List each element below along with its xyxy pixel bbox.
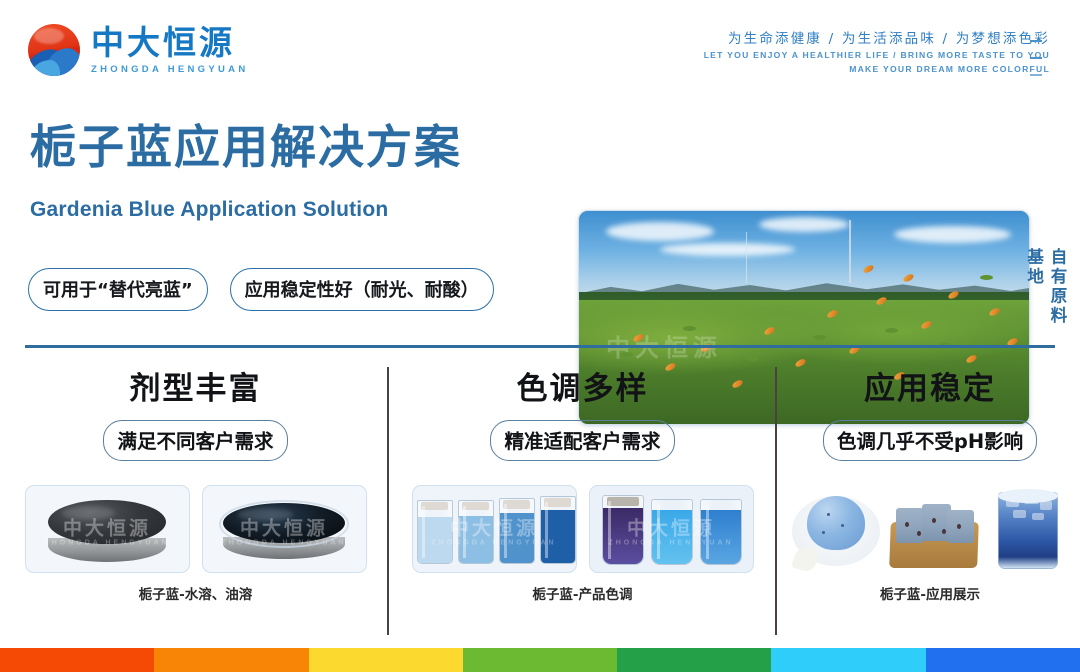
- column-3-caption: 栀子蓝-应用展示: [785, 583, 1075, 603]
- footer-swatch-6: [771, 648, 925, 672]
- brand-logo: 中大恒源 ZHONGDA HENGYUAN: [28, 24, 248, 76]
- glass: [602, 495, 644, 565]
- column-3-badge: 色调几乎不受pH影响: [823, 420, 1037, 461]
- footer-color-bar: [0, 648, 1080, 672]
- footer-swatch-7: [926, 648, 1080, 672]
- beaker: [417, 500, 453, 564]
- feature-column-2: 色调多样 精准适配客户需求 中大恒源: [395, 355, 770, 603]
- footer-swatch-1: [0, 648, 154, 672]
- column-2-caption: 栀子蓝-产品色调: [395, 583, 770, 603]
- photo-side-label: 自有原料基地: [1043, 248, 1069, 345]
- hero-badge-2: 应用稳定性好（耐光、耐酸）: [230, 268, 494, 311]
- brand-name-en: ZHONGDA HENGYUAN: [91, 64, 248, 75]
- blue-iced-drink-image: [988, 485, 1068, 573]
- blue-cake-slices-board-image: [886, 485, 982, 573]
- feature-column-1: 剂型丰富 满足不同客户需求 中大恒源 ZHONGDA HENGYUAN 中大恒源: [8, 355, 383, 603]
- brand-logo-text: 中大恒源 ZHONGDA HENGYUAN: [91, 25, 248, 75]
- footer-swatch-4: [463, 648, 617, 672]
- tagline-cn: 为生命添健康 / 为生活添品味 / 为梦想添色彩: [704, 30, 1050, 48]
- column-divider-2: [775, 367, 777, 635]
- page-header: 中大恒源 ZHONGDA HENGYUAN 为生命添健康 / 为生活添品味 / …: [0, 0, 1080, 100]
- tagline-en-line1: LET YOU ENJOY A HEALTHIER LIFE / BRING M…: [704, 48, 1050, 62]
- beaker: [458, 500, 494, 564]
- glass: [700, 499, 742, 565]
- footer-swatch-2: [154, 648, 308, 672]
- feature-column-3: 应用稳定 色调几乎不受pH影响: [785, 355, 1075, 603]
- column-1-images: 中大恒源 ZHONGDA HENGYUAN 中大恒源 ZHONGDA HENGY…: [8, 485, 383, 573]
- glass: [651, 499, 693, 565]
- gardenia-blue-oil-dish-image: 中大恒源 ZHONGDA HENGYUAN: [202, 485, 367, 573]
- poster-page: 中大恒源 ZHONGDA HENGYUAN 为生命添健康 / 为生活添品味 / …: [0, 0, 1080, 672]
- sun-over-waves-logo-icon: [28, 24, 80, 76]
- brand-name-cn: 中大恒源: [91, 25, 248, 61]
- beaker: [499, 498, 535, 564]
- column-1-title: 剂型丰富: [8, 363, 383, 408]
- footer-swatch-5: [617, 648, 771, 672]
- feature-columns: 剂型丰富 满足不同客户需求 中大恒源 ZHONGDA HENGYUAN 中大恒源: [0, 355, 1080, 640]
- page-title: 栀子蓝应用解决方案: [30, 122, 462, 173]
- brand-tagline: 为生命添健康 / 为生活添品味 / 为梦想添色彩 LET YOU ENJOY A…: [704, 30, 1050, 77]
- section-divider: [25, 345, 1055, 348]
- hero-badges: 可用于“替代亮蓝” 应用稳定性好（耐光、耐酸）: [28, 268, 494, 311]
- column-1-caption: 栀子蓝-水溶、油溶: [8, 583, 383, 603]
- page-subtitle: Gardenia Blue Application Solution: [30, 198, 388, 222]
- column-2-badge: 精准适配客户需求: [490, 420, 674, 461]
- tagline-bars-icon: [1028, 36, 1044, 82]
- hero-badge-1: 可用于“替代亮蓝”: [28, 268, 208, 311]
- column-2-images: 中大恒源 ZHONGDA HENGYUAN 中大恒源 ZHON: [395, 485, 770, 573]
- gardenia-blue-glass-series-image: 中大恒源 ZHONGDA HENGYUAN: [589, 485, 754, 573]
- column-3-title: 应用稳定: [785, 363, 1075, 408]
- column-3-images: [785, 485, 1075, 573]
- footer-swatch-3: [309, 648, 463, 672]
- hero-section: 栀子蓝应用解决方案 Gardenia Blue Application Solu…: [0, 100, 1080, 345]
- column-2-title: 色调多样: [395, 363, 770, 408]
- blue-mousse-cake-image: [792, 485, 880, 573]
- beaker: [540, 496, 576, 564]
- tagline-en-line2: MAKE YOUR DREAM MORE COLORFUL: [704, 62, 1050, 76]
- gardenia-blue-powder-dish-image: 中大恒源 ZHONGDA HENGYUAN: [25, 485, 190, 573]
- column-1-badge: 满足不同客户需求: [103, 420, 287, 461]
- column-divider-1: [387, 367, 389, 635]
- gardenia-blue-beaker-series-image: 中大恒源 ZHONGDA HENGYUAN: [412, 485, 577, 573]
